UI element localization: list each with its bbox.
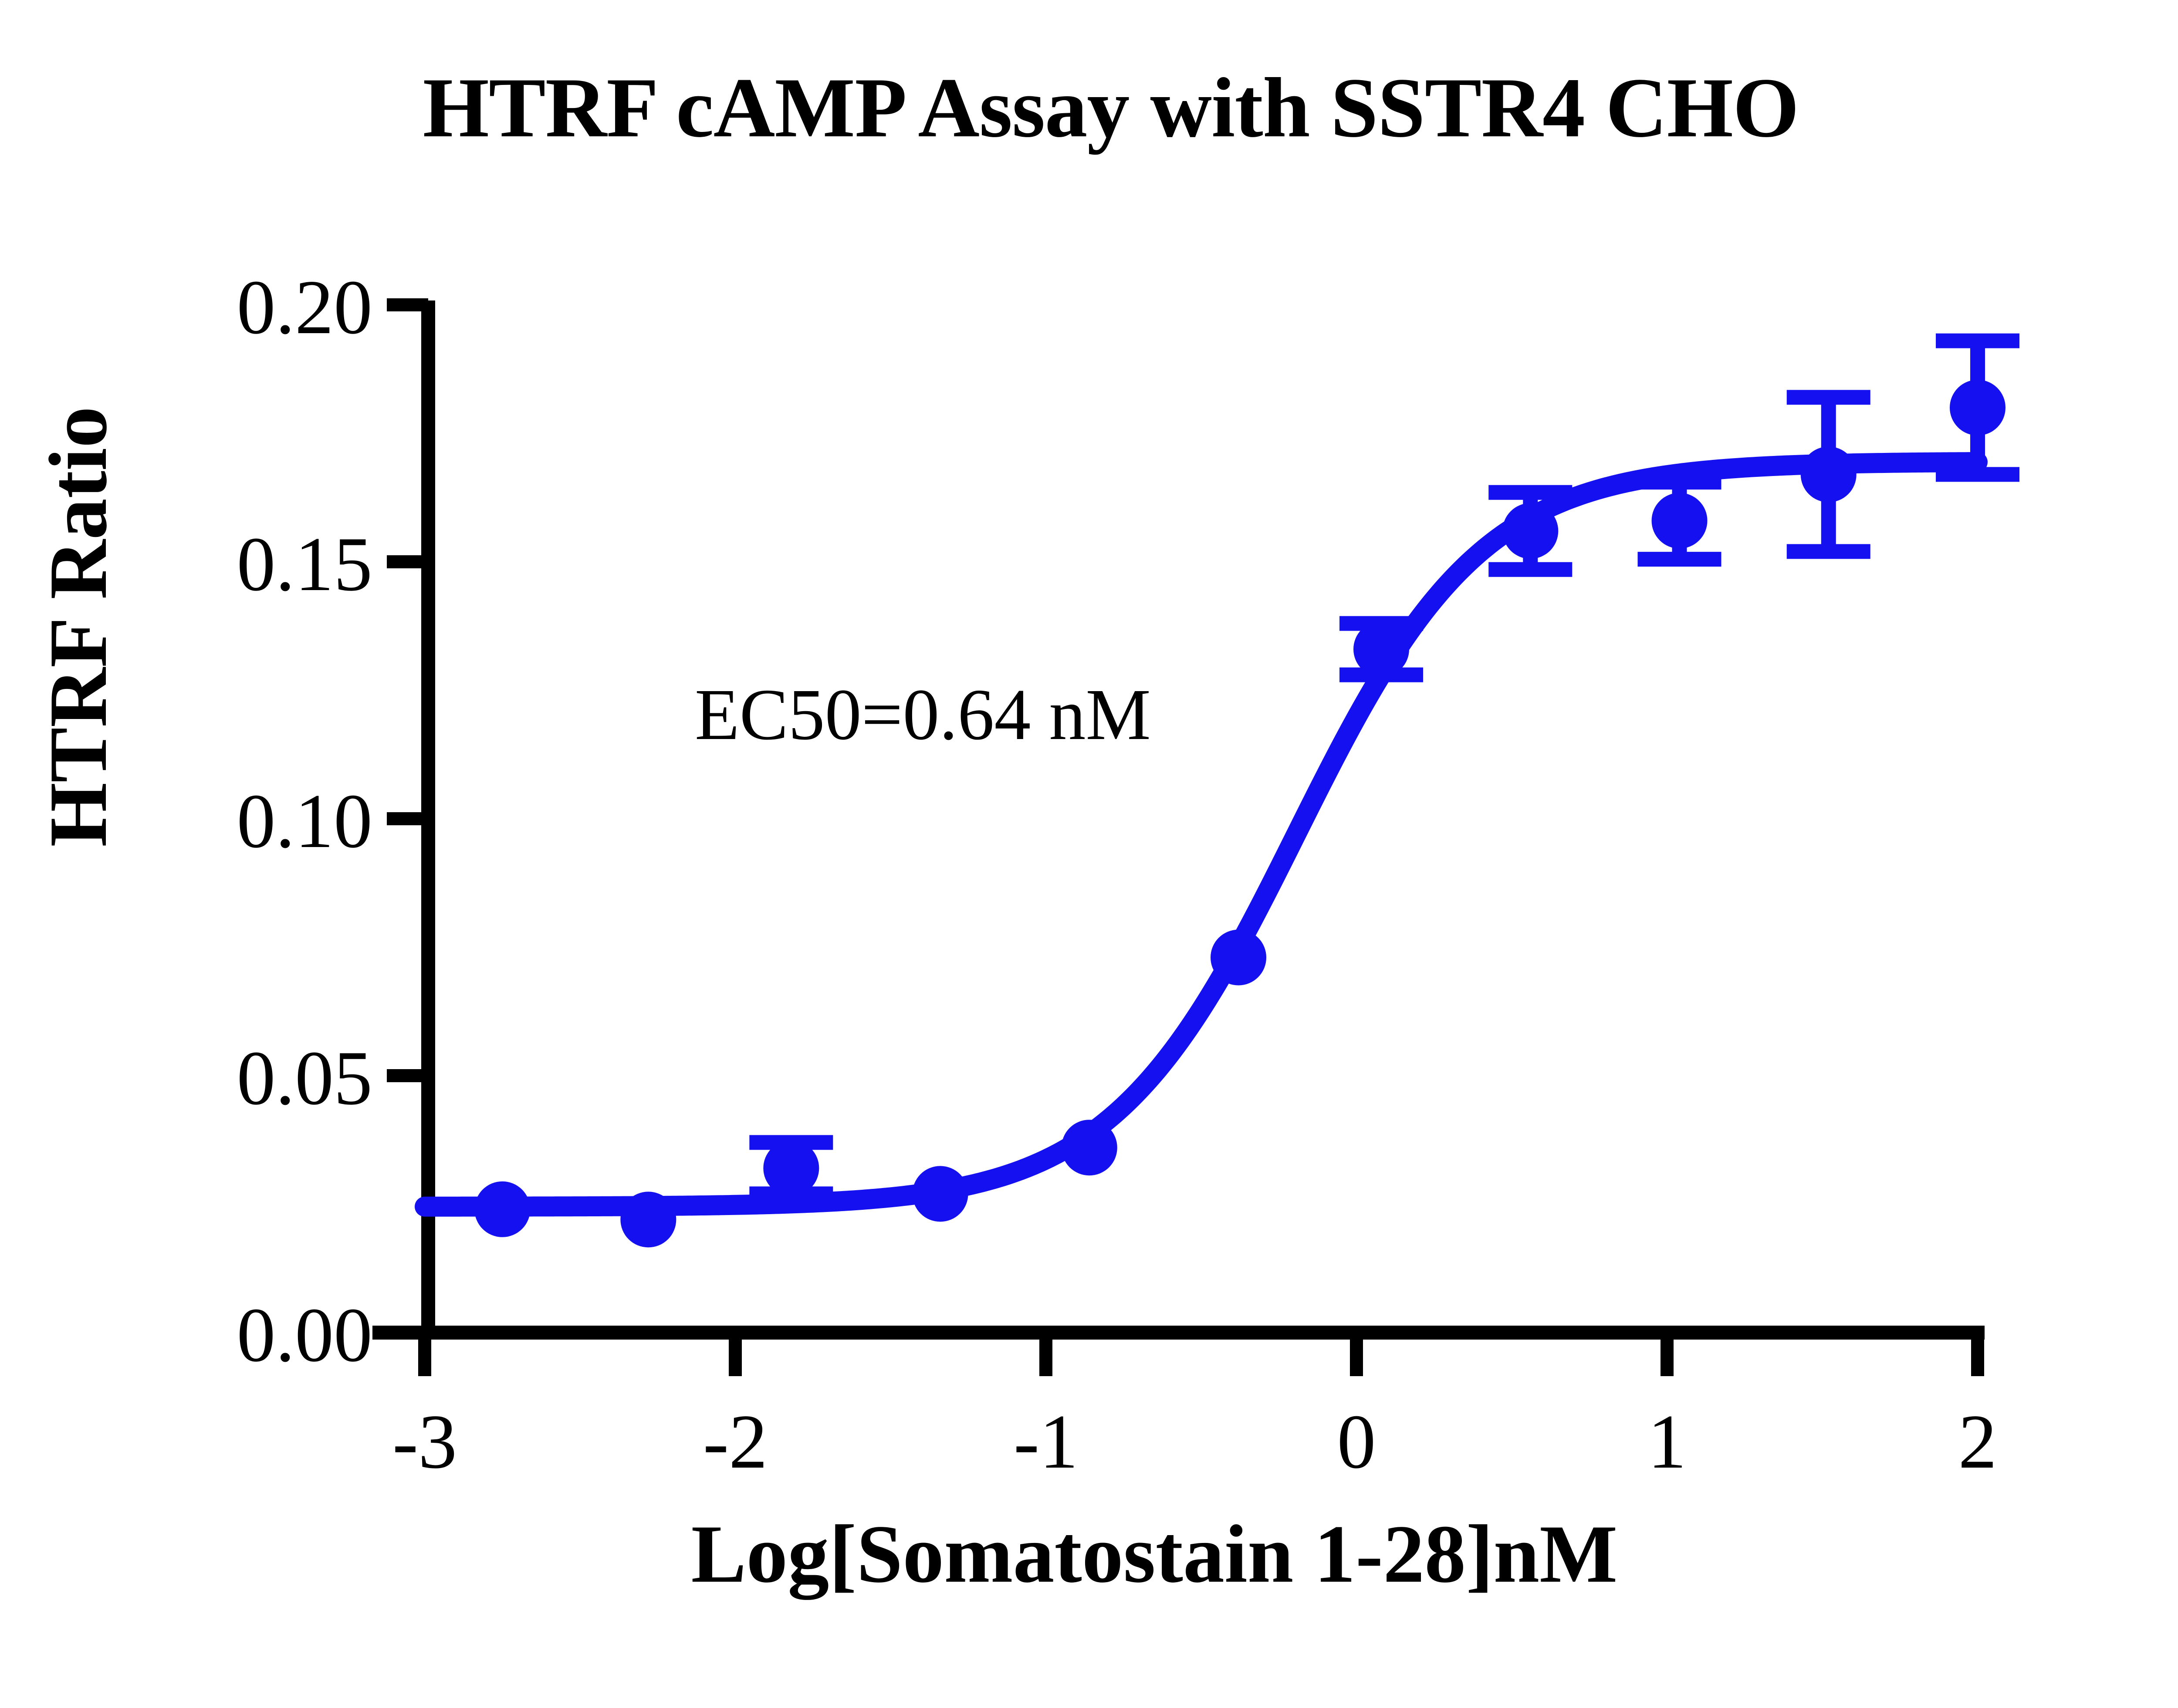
fitted-curve xyxy=(425,462,1978,1207)
chart-canvas: HTRF cAMP Assay with SSTR4 CHO 0.00 xyxy=(0,0,2178,1708)
y-axis-title: HTRF Ratio xyxy=(31,365,126,888)
x-tick-labels: -3 -2 -1 0 1 2 xyxy=(392,1398,1997,1485)
axis-spines xyxy=(372,300,1985,1333)
y-tick-label: 0.15 xyxy=(237,521,373,607)
data-points xyxy=(474,380,2006,1247)
y-tick-label: 0.10 xyxy=(237,778,373,864)
y-tick-label: 0.20 xyxy=(237,264,373,350)
data-point-marker xyxy=(1801,446,1857,502)
y-tick-label: 0.00 xyxy=(237,1292,373,1378)
data-point-marker xyxy=(1652,493,1708,549)
ec50-annotation: EC50=0.64 nM xyxy=(695,673,1151,757)
x-tick-label: 0 xyxy=(1337,1398,1376,1485)
data-point-marker xyxy=(620,1192,676,1247)
data-point-marker xyxy=(913,1166,968,1222)
x-tick-label: -3 xyxy=(392,1398,457,1485)
data-point-marker xyxy=(763,1140,819,1196)
data-point-marker xyxy=(1211,930,1266,986)
x-axis-title: Log[Somatostain 1-28]nM xyxy=(305,1507,2004,1602)
x-tick-label: -1 xyxy=(1014,1398,1078,1485)
data-point-marker xyxy=(1502,503,1558,559)
x-tick-label: -2 xyxy=(703,1398,768,1485)
y-tick-label: 0.05 xyxy=(237,1035,373,1121)
data-point-marker xyxy=(1950,380,2006,435)
x-tick-label: 2 xyxy=(1958,1398,1997,1485)
y-tick-labels: 0.00 0.05 0.10 0.15 0.20 xyxy=(237,264,373,1378)
data-point-marker xyxy=(474,1181,530,1237)
data-point-marker xyxy=(1062,1120,1117,1175)
x-tick-label: 1 xyxy=(1648,1398,1687,1485)
data-point-marker xyxy=(1353,621,1409,677)
plot-area: 0.00 0.05 0.10 0.15 0.20 -3 -2 -1 0 1 2 xyxy=(0,0,2178,1708)
